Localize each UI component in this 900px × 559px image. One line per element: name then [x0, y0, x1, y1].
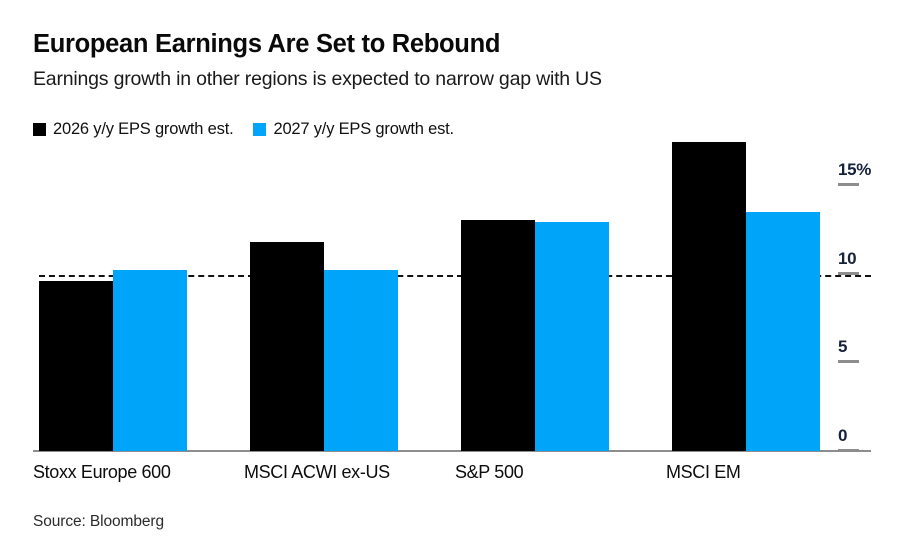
y-axis-tick-label: 0 — [838, 426, 847, 446]
y-axis-tick-mark — [838, 272, 859, 275]
x-axis-category-label: Stoxx Europe 600 — [33, 463, 171, 481]
bar-group — [461, 140, 609, 451]
y-axis-tick-label: 5 — [838, 337, 847, 357]
source-note: Source: Bloomberg — [33, 513, 164, 531]
y-axis-tick-label: 10 — [838, 249, 856, 269]
y-axis-tick-label: 15% — [838, 160, 871, 180]
bar[interactable] — [39, 281, 113, 451]
bar-group — [672, 140, 820, 451]
bar[interactable] — [324, 270, 398, 451]
chart-plot-area: 051015% Stoxx Europe 600MSCI ACWI ex-USS… — [0, 0, 900, 559]
y-axis-tick-mark — [838, 360, 859, 363]
bar[interactable] — [672, 142, 746, 451]
x-axis-category-label: MSCI ACWI ex-US — [244, 463, 390, 481]
bar[interactable] — [535, 222, 609, 451]
bar[interactable] — [746, 212, 820, 451]
bar[interactable] — [113, 270, 187, 451]
chart-page: European Earnings Are Set to Rebound Ear… — [0, 0, 900, 559]
bar-group — [250, 140, 398, 451]
bar-group — [39, 140, 187, 451]
x-axis-category-label: MSCI EM — [666, 463, 741, 481]
y-axis-tick-mark — [838, 183, 859, 186]
bar[interactable] — [250, 242, 324, 451]
x-axis-category-label: S&P 500 — [455, 463, 523, 481]
y-axis-tick-mark — [838, 449, 859, 452]
bar[interactable] — [461, 220, 535, 451]
